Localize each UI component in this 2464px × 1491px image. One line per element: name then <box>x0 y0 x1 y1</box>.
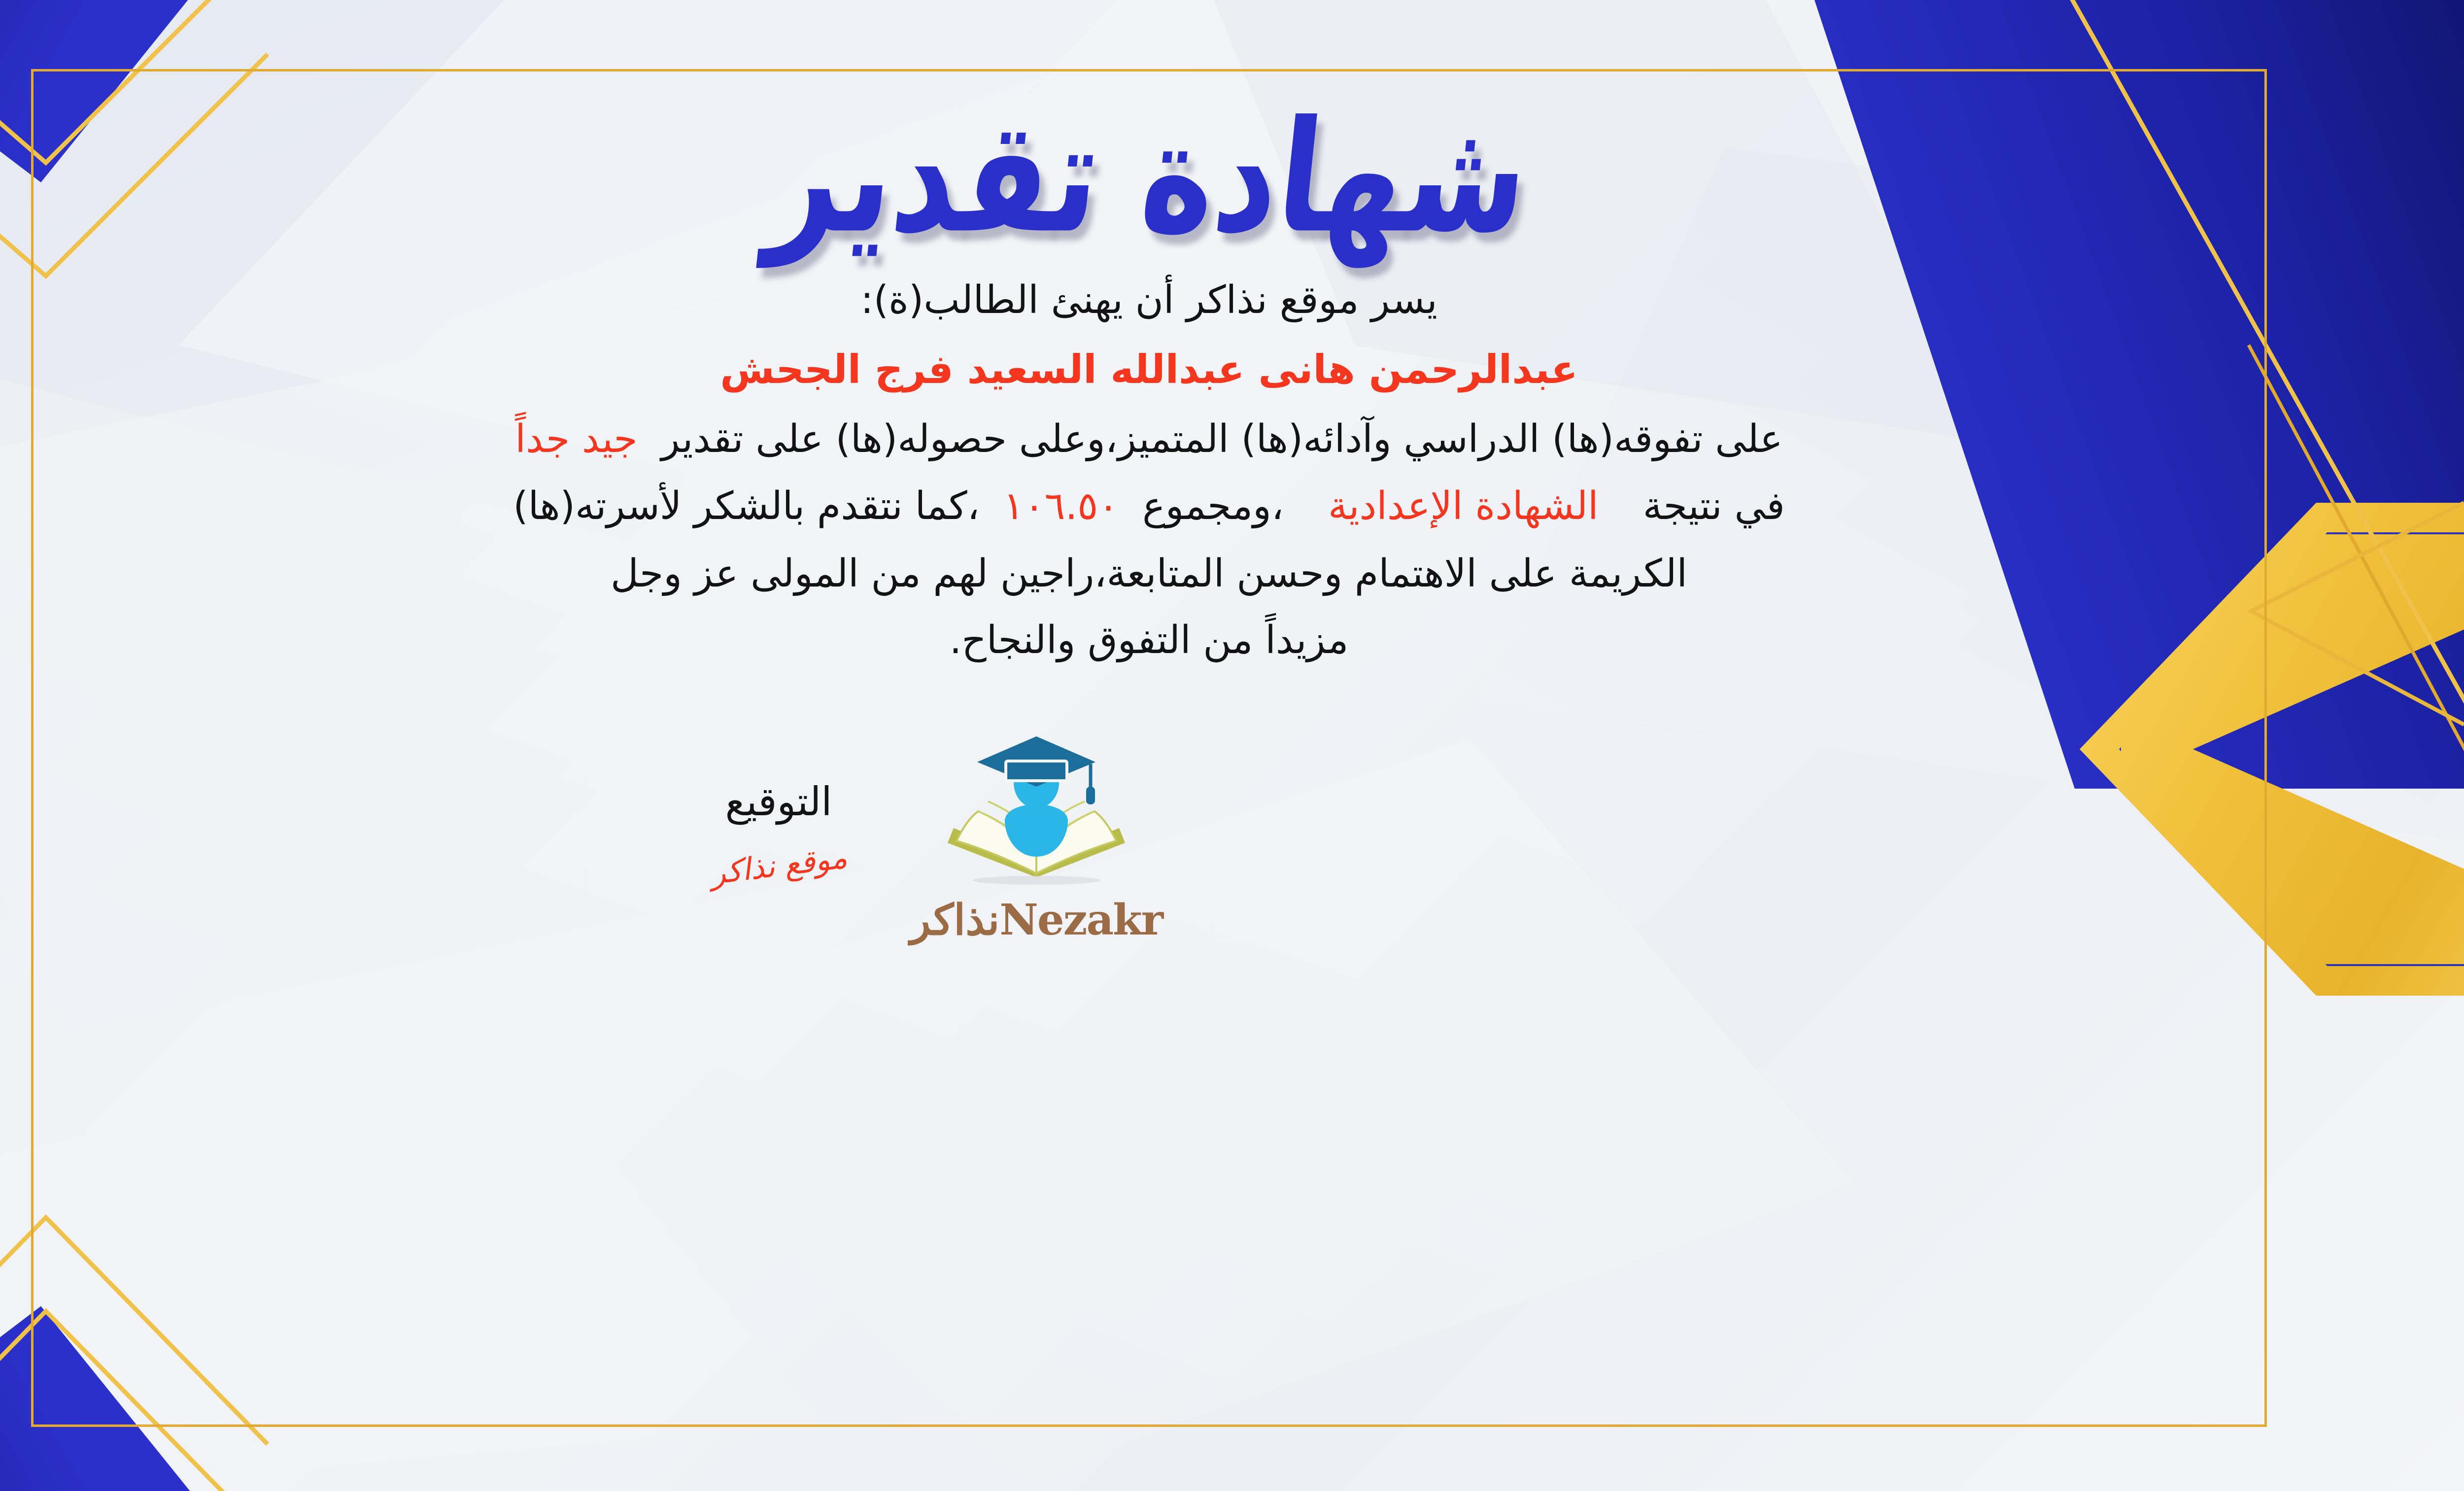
achievement-text: على تفوقه(ها) الدراسي وآدائه(ها) المتميز… <box>661 417 1783 461</box>
achievement-line: على تفوقه(ها) الدراسي وآدائه(ها) المتميز… <box>31 420 2267 458</box>
certificate-canvas: شهادة تقدير يسر موقع نذاكر أن يهنئ الطال… <box>0 0 2464 1491</box>
total-score: ١٠٦.٥٠ <box>1003 484 1119 528</box>
result-line: في نتيجةالشهادة الإعدادية،ومجموع١٠٦.٥٠،ك… <box>31 487 2267 525</box>
intro-line: يسر موقع نذاكر أن يهنئ الطالب(ة): <box>31 281 2267 319</box>
title-area: شهادة تقدير <box>31 74 2267 281</box>
result-prefix: في نتيجة <box>1643 484 1785 528</box>
brand-name: Nezakrنذاكر <box>849 895 1224 945</box>
grade-value: جيد جداً <box>515 417 637 461</box>
page-title: شهادة تقدير <box>762 101 1535 255</box>
certificate-content: شهادة تقدير يسر موقع نذاكر أن يهنئ الطال… <box>31 69 2267 1427</box>
thanks-text: ،كما نتقدم بالشكر لأسرته(ها) <box>513 484 980 528</box>
exam-name: الشهادة الإعدادية <box>1328 484 1599 528</box>
closing-line: مزيداً من التفوق والنجاح. <box>31 621 2267 659</box>
total-label: ،ومجموع <box>1142 484 1284 528</box>
signature-script: موقع نذاكر <box>708 839 849 891</box>
brand-logo: Nezakrنذاكر <box>849 729 1224 945</box>
student-name: عبدالرحمن هانى عبدالله السعيد فرج الجحش <box>31 350 2267 389</box>
family-thanks-line: الكريمة على الاهتمام وحسن المتابعة،راجين… <box>31 555 2267 593</box>
graduate-book-icon <box>933 729 1140 892</box>
